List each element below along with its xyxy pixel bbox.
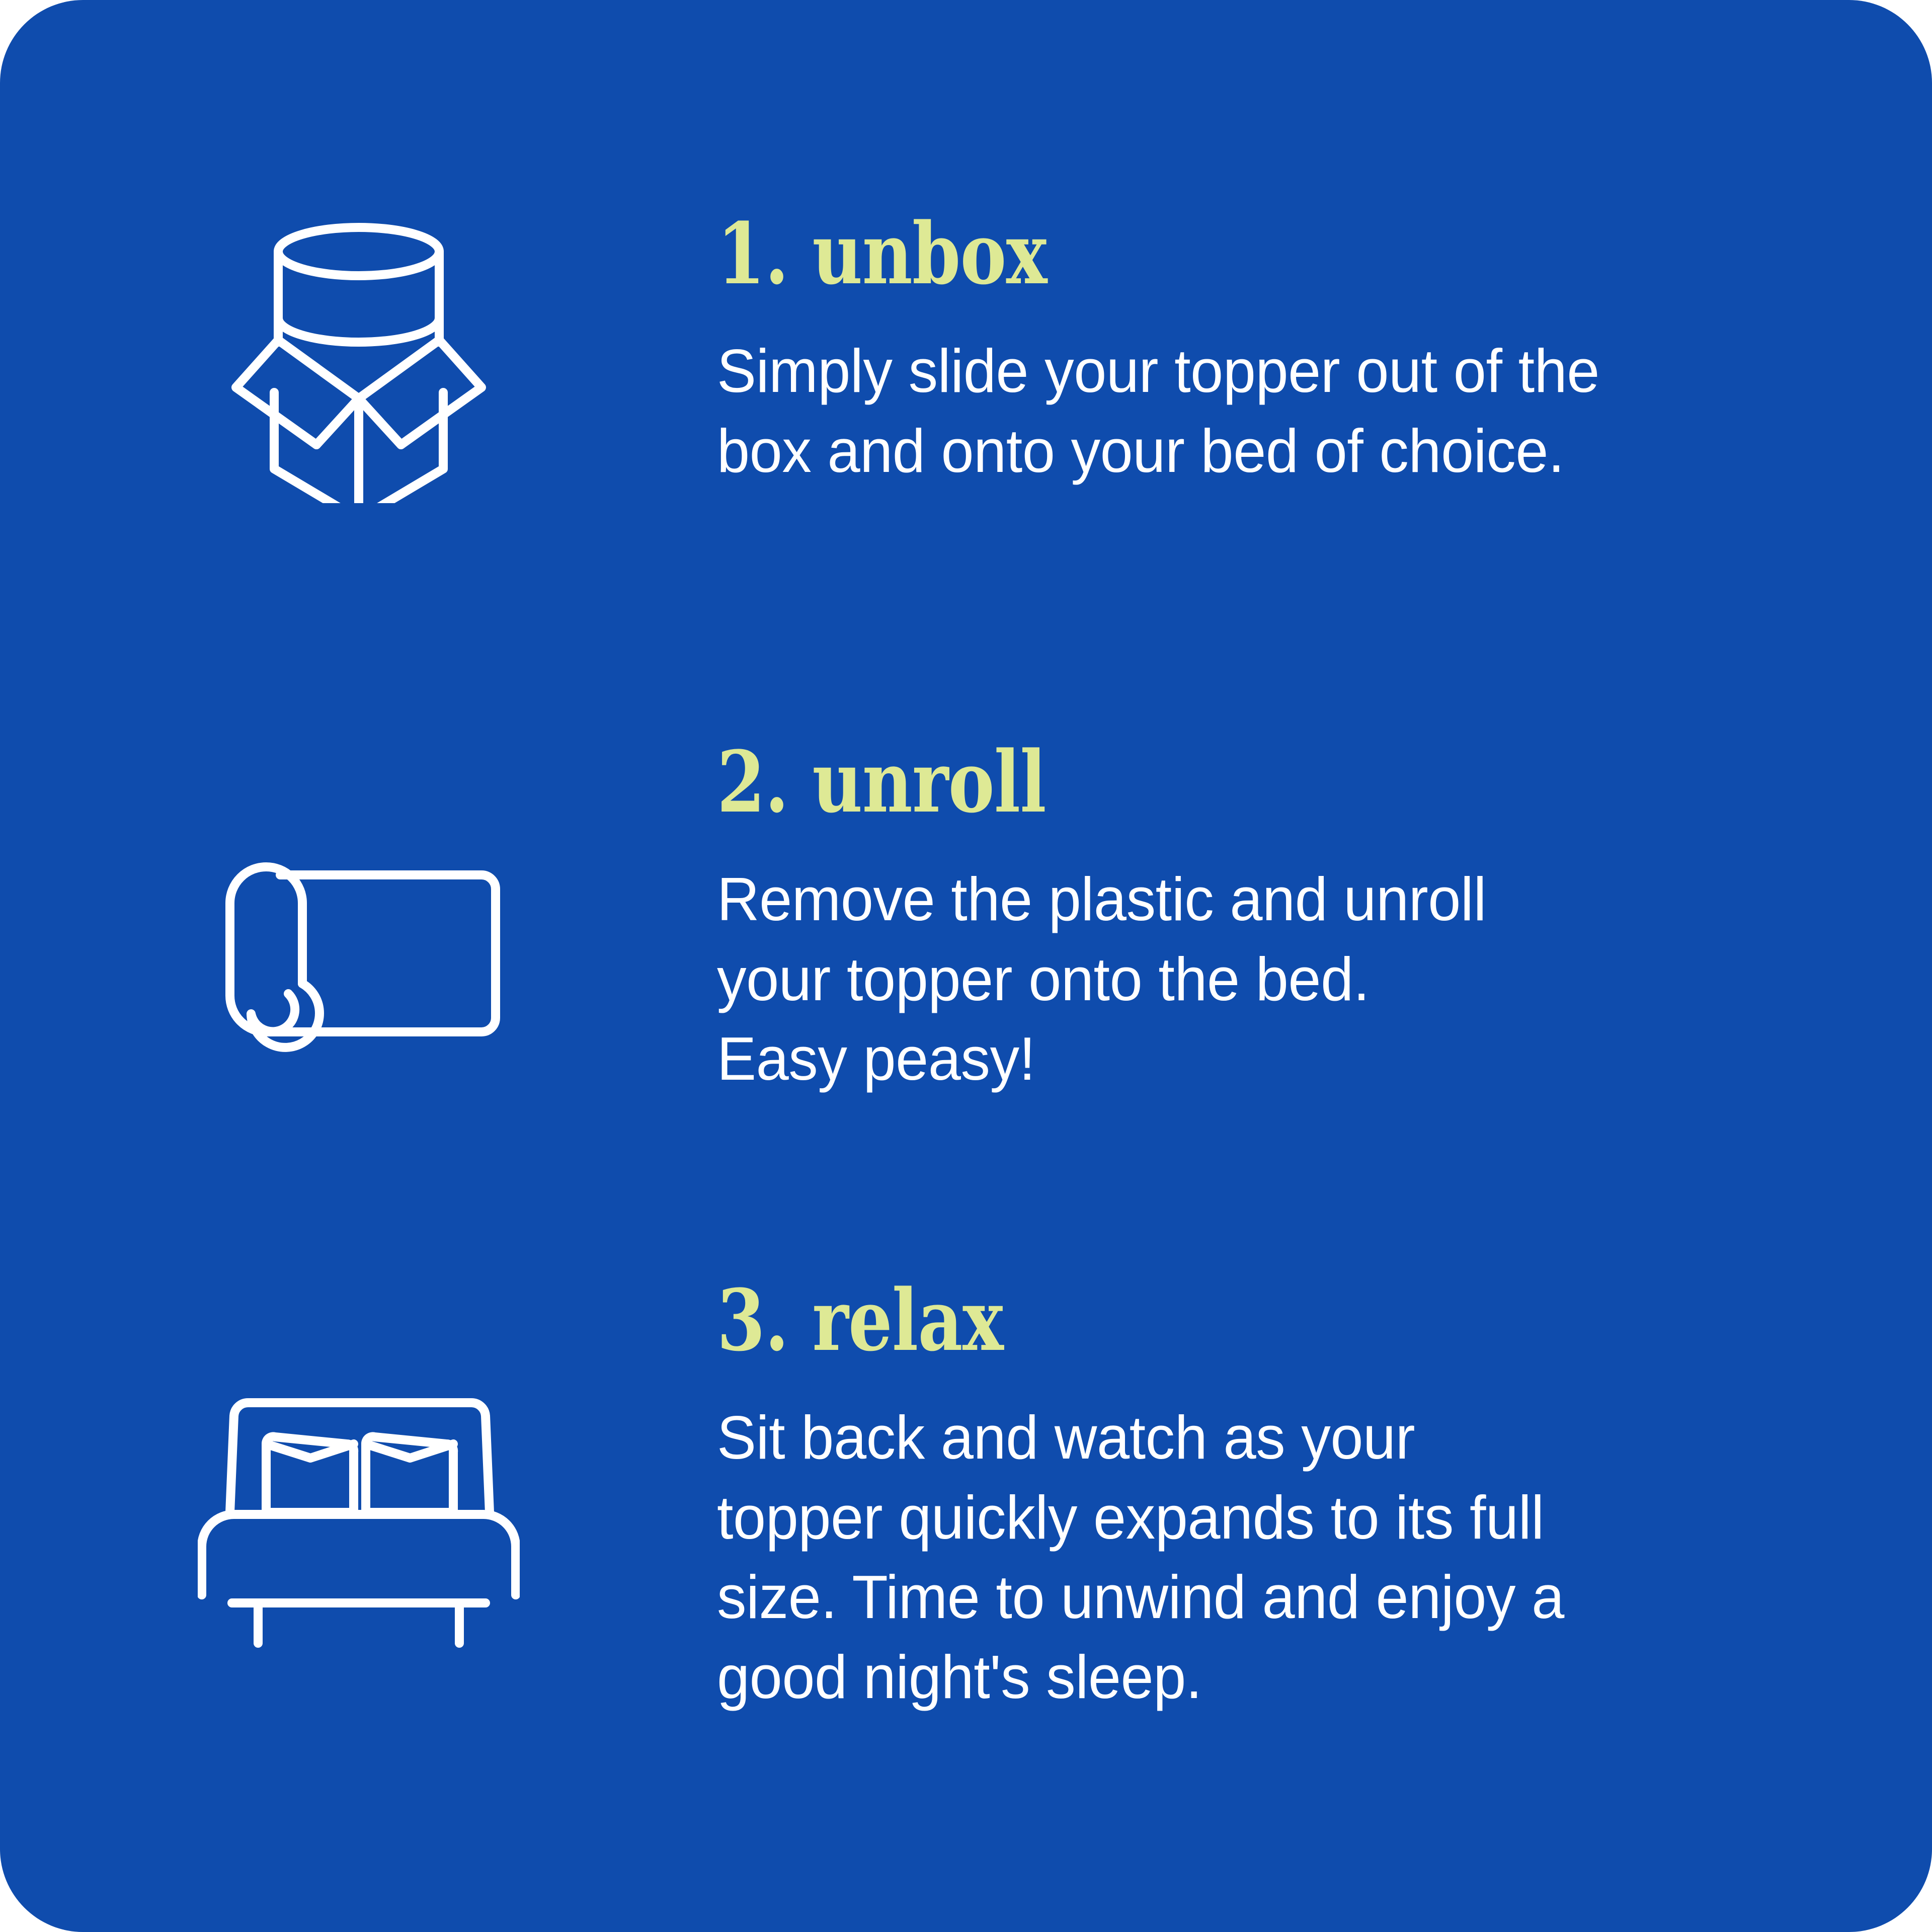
step-1-text-column: 1. unbox Simply slide your topper out of… [717, 211, 1932, 491]
instructions-card: 1. unbox Simply slide your topper out of… [0, 0, 1932, 1932]
step-1-body-line-2: box and onto your bed of choice. [717, 411, 1797, 491]
step-3-body-line-1: Sit back and watch as your [717, 1398, 1797, 1478]
step-3-body-line-2: topper quickly expands to its full [717, 1478, 1797, 1558]
step-1-body-line-1: Simply slide your topper out of the [717, 331, 1797, 411]
step-2-text-column: 2. unroll Remove the plastic and unroll … [717, 740, 1932, 1099]
step-2-heading: 2. unroll [717, 740, 1639, 824]
step-2-icon-column [0, 740, 717, 1054]
step-3-body-line-3: size. Time to unwind and enjoy a [717, 1557, 1797, 1637]
step-unroll: 2. unroll Remove the plastic and unroll … [0, 740, 1932, 1099]
step-2-body-line-3: Easy peasy! [717, 1019, 1797, 1099]
step-1-heading: 1. unbox [717, 211, 1639, 296]
step-3-body-line-4: good night's sleep. [717, 1637, 1797, 1717]
step-3-heading: 3. relax [717, 1278, 1639, 1362]
bed-with-pillows-icon [198, 1394, 520, 1650]
rolled-mattress-topper-icon [208, 853, 510, 1054]
step-relax: 3. relax Sit back and watch as your topp… [0, 1278, 1932, 1717]
step-2-body: Remove the plastic and unroll your toppe… [717, 859, 1797, 1099]
step-2-body-line-1: Remove the plastic and unroll [717, 859, 1797, 939]
step-3-text-column: 3. relax Sit back and watch as your topp… [717, 1278, 1932, 1717]
step-1-icon-column [0, 211, 717, 503]
open-box-with-rolled-topper-icon [228, 221, 490, 503]
step-3-icon-column [0, 1278, 717, 1650]
step-3-body: Sit back and watch as your topper quickl… [717, 1398, 1797, 1717]
step-unbox: 1. unbox Simply slide your topper out of… [0, 211, 1932, 503]
step-2-body-line-2: your topper onto the bed. [717, 939, 1797, 1019]
step-1-body: Simply slide your topper out of the box … [717, 331, 1797, 491]
